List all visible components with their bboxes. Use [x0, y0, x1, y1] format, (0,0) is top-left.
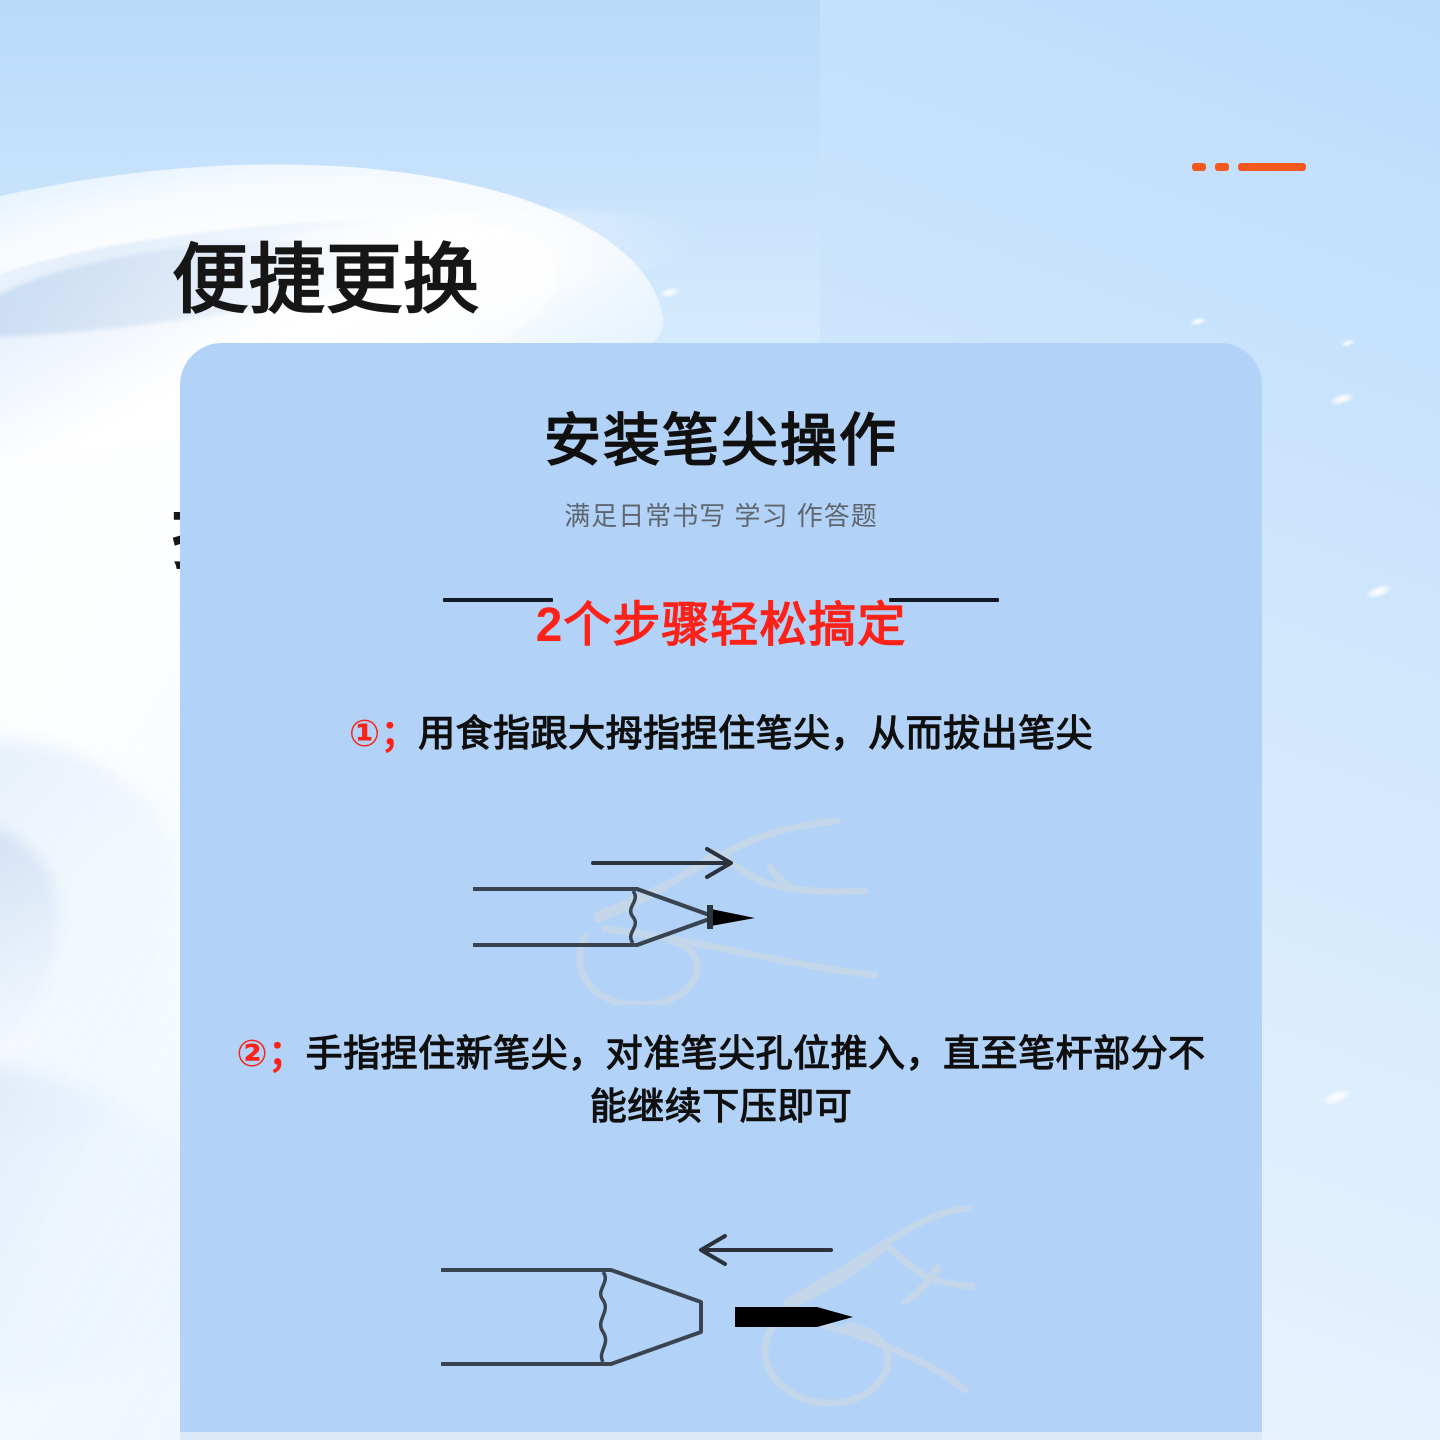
- pen-body-icon: [473, 889, 715, 945]
- hand-pinch-outline-icon: [765, 1208, 975, 1403]
- card-bottom-strip: [180, 1432, 1262, 1440]
- pen-tip-icon: [735, 1307, 853, 1327]
- headline-line-1: 便捷更换: [172, 238, 711, 323]
- step-1-marker: ①；: [349, 713, 418, 754]
- card-subtitle: 满足日常书写 学习 作答题: [180, 496, 1262, 533]
- orange-dash-short-1: [1192, 163, 1206, 171]
- instruction-card: 安装笔尖操作 满足日常书写 学习 作答题 2个步骤轻松搞定 ①；用食指跟大拇指捏…: [180, 343, 1262, 1432]
- pen-tip-icon: [707, 905, 755, 929]
- step-2-marker: ②；: [236, 1033, 305, 1074]
- sparkle-icon: [1329, 391, 1355, 407]
- pen-tip-push-in-diagram: [435, 1206, 975, 1426]
- pen-body-icon: [441, 1270, 701, 1364]
- sparkle-icon: [1189, 316, 1206, 327]
- sparkle-icon: [1321, 1086, 1353, 1108]
- highlight-text: 2个步骤轻松搞定: [180, 585, 1262, 655]
- sparkle-icon: [1340, 338, 1355, 349]
- pen-tip-pull-out-diagram: [465, 805, 935, 1005]
- step-1-text: ①；用食指跟大拇指捏住笔尖，从而拔出笔尖: [226, 708, 1216, 761]
- step-1-body: 用食指跟大拇指捏住笔尖，从而拔出笔尖: [418, 713, 1093, 754]
- orange-dash-long: [1238, 163, 1306, 171]
- sparkle-icon: [1365, 582, 1393, 600]
- orange-dash-short-2: [1215, 163, 1229, 171]
- promo-page: 便捷更换 提升不一样体验 安装笔尖操作 满足日常书写 学习 作答题 2个步骤轻松…: [0, 0, 1440, 1440]
- step-2-body: 手指捏住新笔尖，对准笔尖孔位推入，直至笔杆部分不能继续下压即可: [306, 1033, 1206, 1127]
- background-cloth-fold-mid: [0, 820, 60, 1050]
- orange-dash-decoration: [1192, 163, 1306, 171]
- arrow-left-icon: [701, 1236, 831, 1264]
- background-cloth-fold-upper: [0, 740, 170, 1140]
- arrow-right-icon: [593, 849, 731, 877]
- step-2-text: ②；手指捏住新笔尖，对准笔尖孔位推入，直至笔杆部分不能继续下压即可: [226, 1028, 1216, 1133]
- card-title: 安装笔尖操作: [180, 395, 1262, 477]
